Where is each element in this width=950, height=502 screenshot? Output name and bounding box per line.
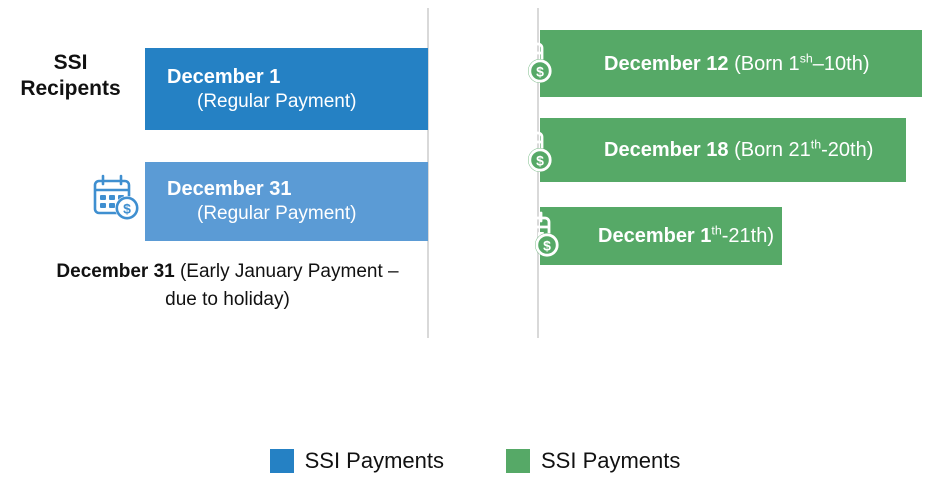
- bar-december-12-label: December 12 (Born 1sh–10th): [540, 51, 870, 77]
- calendar-dollar-icon-green-2: $: [503, 124, 557, 178]
- bar-december-18-note-sup: th: [811, 137, 821, 151]
- bar-december-1-green-date: December 1: [598, 225, 711, 247]
- bar-december-31-date: December 31: [167, 176, 356, 202]
- footnote-early-january: December 31 (Early January Payment – due…: [55, 258, 400, 313]
- category-label-line1: SSI: [54, 51, 88, 74]
- bar-december-1-green-label: December 1th-21th): [540, 223, 774, 249]
- bar-december-1-regular[interactable]: December 1 (Regular Payment): [145, 48, 428, 130]
- bar-december-31-label: December 31 (Regular Payment): [145, 176, 356, 227]
- footnote-bold: December 31: [56, 261, 174, 282]
- legend-label-green: SSI Payments: [541, 448, 680, 474]
- bar-december-1-green-note-sup: th: [711, 223, 721, 237]
- bar-december-18[interactable]: December 18 (Born 21th-20th): [540, 118, 906, 182]
- infographic-canvas: SSI Recipents December 1 (Regular Paymen…: [0, 0, 950, 502]
- svg-text:$: $: [536, 153, 544, 169]
- bar-december-12-date: December 12: [604, 53, 729, 75]
- bar-december-12-note-sup: sh: [800, 51, 813, 65]
- bar-december-12-note-post: –10th): [813, 53, 870, 75]
- category-label-line2: Recipents: [20, 77, 120, 100]
- bar-december-18-label: December 18 (Born 21th-20th): [540, 137, 873, 163]
- svg-text:$: $: [536, 64, 544, 80]
- footnote-regular: (Early January Payment – due to holiday): [165, 261, 398, 310]
- legend-item-blue[interactable]: SSI Payments: [270, 448, 444, 474]
- bar-december-18-note-post: -20th): [821, 139, 873, 161]
- svg-text:$: $: [123, 201, 131, 217]
- bar-december-12-note-pre: (Born 1: [729, 53, 800, 75]
- legend-swatch-blue: [270, 449, 294, 473]
- bar-december-1-date: December 1: [167, 64, 356, 90]
- chart-legend: SSI Payments SSI Payments: [0, 448, 950, 474]
- bar-december-1-label: December 1 (Regular Payment): [145, 64, 356, 115]
- category-label: SSI Recipents: [8, 50, 133, 103]
- calendar-dollar-icon-green-1: $: [503, 35, 557, 89]
- svg-text:$: $: [543, 238, 551, 254]
- legend-label-blue: SSI Payments: [305, 448, 444, 474]
- bar-december-18-date: December 18: [604, 139, 729, 161]
- bar-december-1-green-note-post: -21th): [722, 225, 774, 247]
- legend-item-green[interactable]: SSI Payments: [506, 448, 680, 474]
- legend-swatch-green: [506, 449, 530, 473]
- bar-december-1-green[interactable]: December 1th-21th): [540, 207, 782, 265]
- calendar-dollar-icon: $: [90, 172, 144, 226]
- bar-december-12[interactable]: December 12 (Born 1sh–10th): [540, 30, 922, 97]
- bar-december-31-note: (Regular Payment): [167, 202, 356, 227]
- bar-december-31-regular[interactable]: December 31 (Regular Payment): [145, 162, 428, 241]
- bar-december-1-note: (Regular Payment): [167, 90, 356, 115]
- calendar-dollar-icon-green-3: $: [510, 209, 564, 263]
- bar-december-18-note-pre: (Born 21: [729, 139, 811, 161]
